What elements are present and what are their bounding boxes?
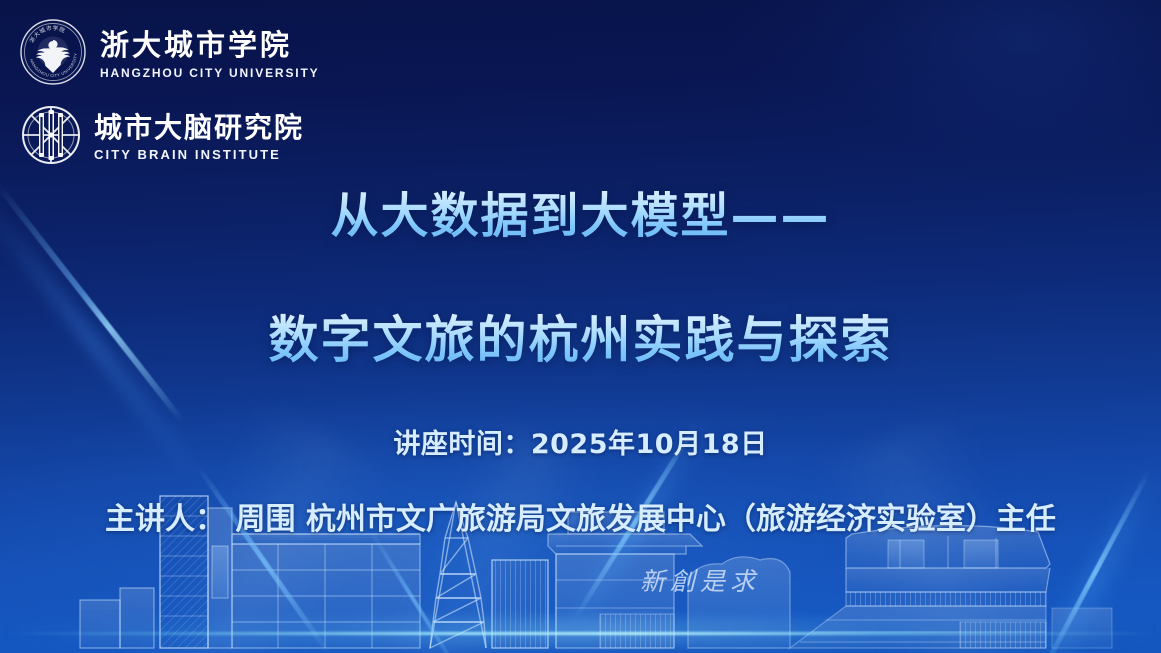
background-glow-top-right [534, 0, 1161, 313]
presentation-slide: 新創是求 浙大城市学院 [0, 0, 1161, 653]
calligraphy-decoration: 新創是求 [640, 567, 760, 596]
institute-wordmark: 城市大脑研究院 CITY BRAIN INSTITUTE [94, 114, 304, 161]
university-wordmark: 浙大城市学院 HANGZHOU CITY UNIVERSITY [100, 31, 320, 79]
lecture-date-text: 讲座时间：2025年10月18日 [393, 422, 767, 461]
bottom-accent-line [0, 632, 1161, 635]
logo-city-brain-institute: 城市大脑研究院 CITY BRAIN INSTITUTE [20, 104, 304, 171]
logo-hangzhou-city-university: 浙大城市学院 HANGZHOU CITY UNIVERSITY 浙大城市学院 H… [18, 17, 320, 92]
speaker-line: 主讲人： 周围 杭州市文广旅游局文旅发展中心（旅游经济实验室）主任 [0, 494, 1161, 538]
university-name-en: HANGZHOU CITY UNIVERSITY [100, 67, 320, 79]
university-seal-icon: 浙大城市学院 HANGZHOU CITY UNIVERSITY [18, 17, 88, 92]
main-title-line-2: 数字文旅的杭州实践与探索 [0, 300, 1161, 372]
main-title-line-1: 从大数据到大模型—— [0, 176, 1161, 246]
lecture-date-line: 讲座时间：2025年10月18日 [0, 422, 1161, 461]
institute-name-en: CITY BRAIN INSTITUTE [94, 148, 304, 161]
institute-name-cn: 城市大脑研究院 [94, 114, 304, 142]
main-title-line-1-text: 从大数据到大模型—— [330, 176, 830, 246]
main-title-line-2-text: 数字文旅的杭州实践与探索 [269, 300, 893, 372]
speaker-text: 主讲人： 周围 杭州市文广旅游局文旅发展中心（旅游经济实验室）主任 [105, 494, 1056, 538]
university-name-cn: 浙大城市学院 [100, 31, 320, 60]
institute-wheel-icon [20, 104, 82, 171]
